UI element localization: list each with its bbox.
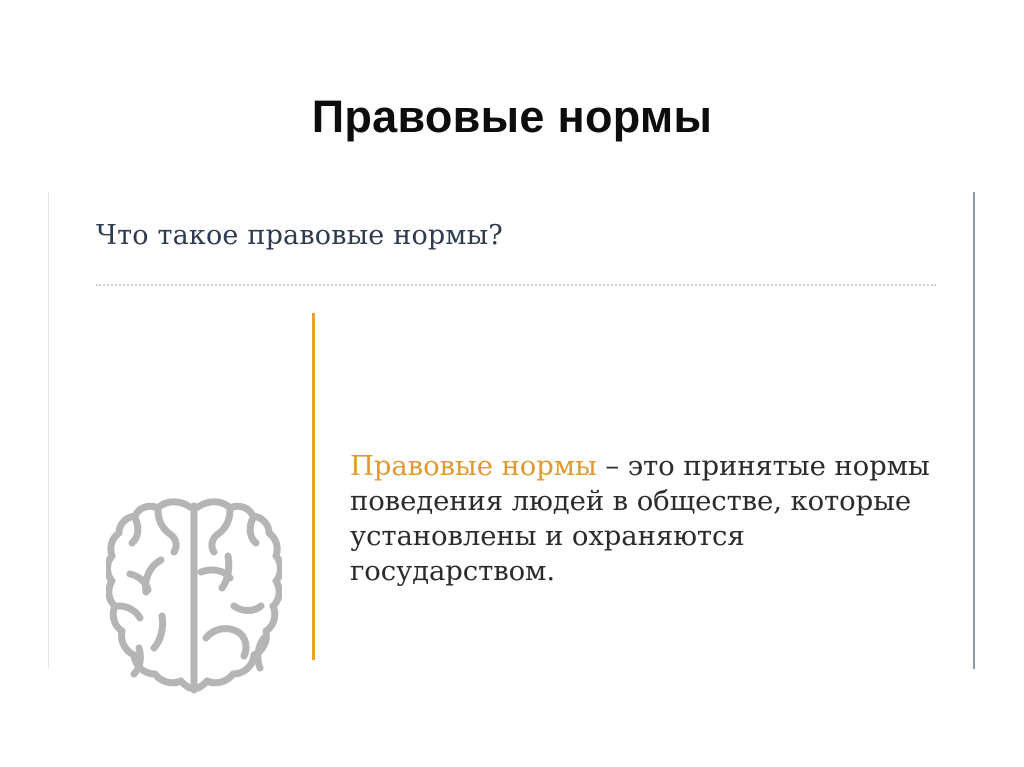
page-title: Правовые нормы xyxy=(0,92,1024,142)
heading-divider xyxy=(96,284,936,286)
slide-page: Правовые нормы Что такое правовые нормы? xyxy=(0,0,1024,767)
brain-icon xyxy=(106,498,282,703)
definition-text: Правовые нормы – это принятые нормы пове… xyxy=(350,449,950,589)
accent-rule xyxy=(312,313,315,660)
slide-content: Правовые нормы – это принятые нормы пове… xyxy=(48,313,975,669)
slide-heading: Что такое правовые нормы? xyxy=(96,220,503,251)
slide-frame: Что такое правовые нормы? xyxy=(48,192,975,669)
definition-term: Правовые нормы xyxy=(350,450,597,482)
